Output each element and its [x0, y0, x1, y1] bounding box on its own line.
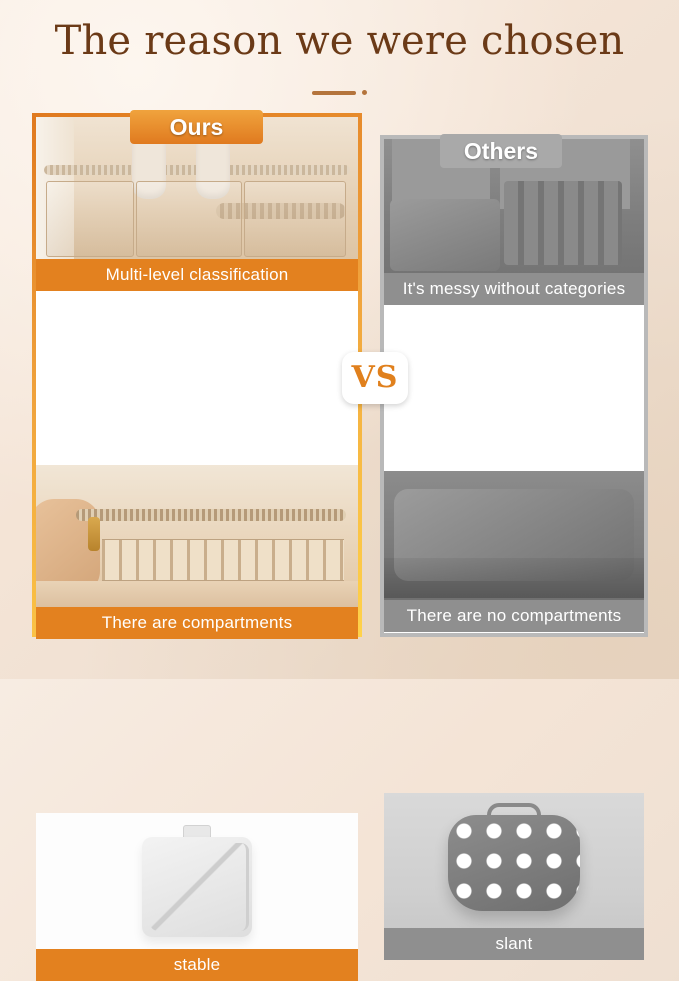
shadow-overlay [384, 558, 644, 598]
ours-row-3-caption: stable [36, 949, 358, 981]
page-title: The reason we were chosen [0, 18, 679, 64]
title-divider [0, 84, 679, 102]
others-row-2-caption: There are no compartments [384, 600, 644, 632]
card-slots [102, 539, 344, 581]
organizer-base [36, 581, 358, 607]
ours-row-2-caption: There are compartments [36, 607, 358, 639]
crumpled-fabric [504, 181, 622, 265]
zipper-line [76, 509, 346, 521]
ours-tab-label: Ours [130, 110, 263, 144]
others-row-3-image: slant [384, 793, 644, 960]
loose-pouch [390, 199, 500, 271]
ours-row-3-image: stable [36, 813, 358, 981]
others-row-2-image: There are no compartments [384, 471, 644, 632]
others-row-1-caption: It's messy without categories [384, 273, 644, 305]
white-bag [142, 837, 252, 937]
others-panel: It's messy without categories There are … [380, 135, 648, 637]
organizer-pocket [46, 181, 134, 257]
others-tab-label: Others [440, 134, 562, 168]
vs-badge: VS [342, 352, 408, 404]
divider-dot [362, 90, 367, 95]
organizer-pocket [244, 181, 346, 257]
ours-row-2-image: There are compartments [36, 465, 358, 639]
organizer-pocket [136, 181, 242, 257]
others-row-3-caption: slant [384, 928, 644, 960]
zipper-pull-icon [88, 517, 100, 551]
ours-panel: Multi-level classification There are com… [32, 113, 362, 637]
polka-dot-bag [448, 815, 580, 911]
ours-row-1-caption: Multi-level classification [36, 259, 358, 291]
divider-bar [312, 91, 356, 95]
